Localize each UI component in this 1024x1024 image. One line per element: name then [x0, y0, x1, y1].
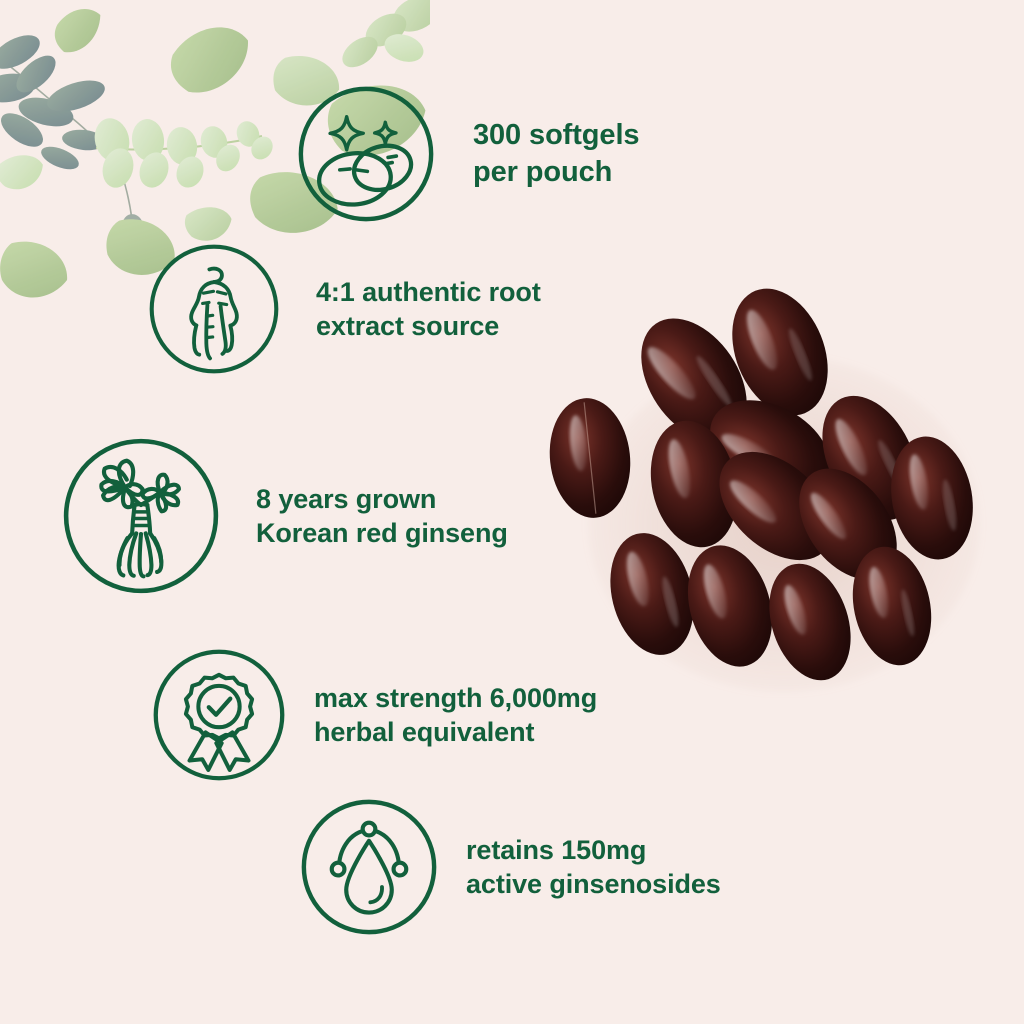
feature-row-ginsenosides: retains 150mg active ginsenosides — [300, 798, 721, 936]
feature-label: 300 softgels per pouch — [473, 117, 639, 190]
feature-row-growth-years: 8 years grown Korean red ginseng — [62, 437, 508, 595]
feature-label: 4:1 authentic root extract source — [316, 275, 541, 343]
feature-row-softgel-count: 300 softgels per pouch — [297, 85, 639, 223]
softgel-capsules-sparkle-icon — [297, 85, 435, 223]
feature-label: 8 years grown Korean red ginseng — [256, 482, 508, 550]
droplet-molecule-icon — [300, 798, 438, 936]
award-ribbon-check-icon — [152, 648, 286, 782]
feature-row-max-strength: max strength 6,000mg herbal equivalent — [152, 648, 597, 782]
feature-label: retains 150mg active ginsenosides — [466, 833, 721, 901]
infographic-canvas: 300 softgels per pouch 4:1 authentic roo… — [0, 0, 1024, 1024]
ginseng-plant-whole-icon — [62, 437, 220, 595]
feature-label: max strength 6,000mg herbal equivalent — [314, 681, 597, 749]
ginseng-root-icon — [148, 243, 280, 375]
feature-row-extract-ratio: 4:1 authentic root extract source — [148, 243, 541, 375]
ginseng-softgel-capsules-photo — [548, 288, 1008, 698]
